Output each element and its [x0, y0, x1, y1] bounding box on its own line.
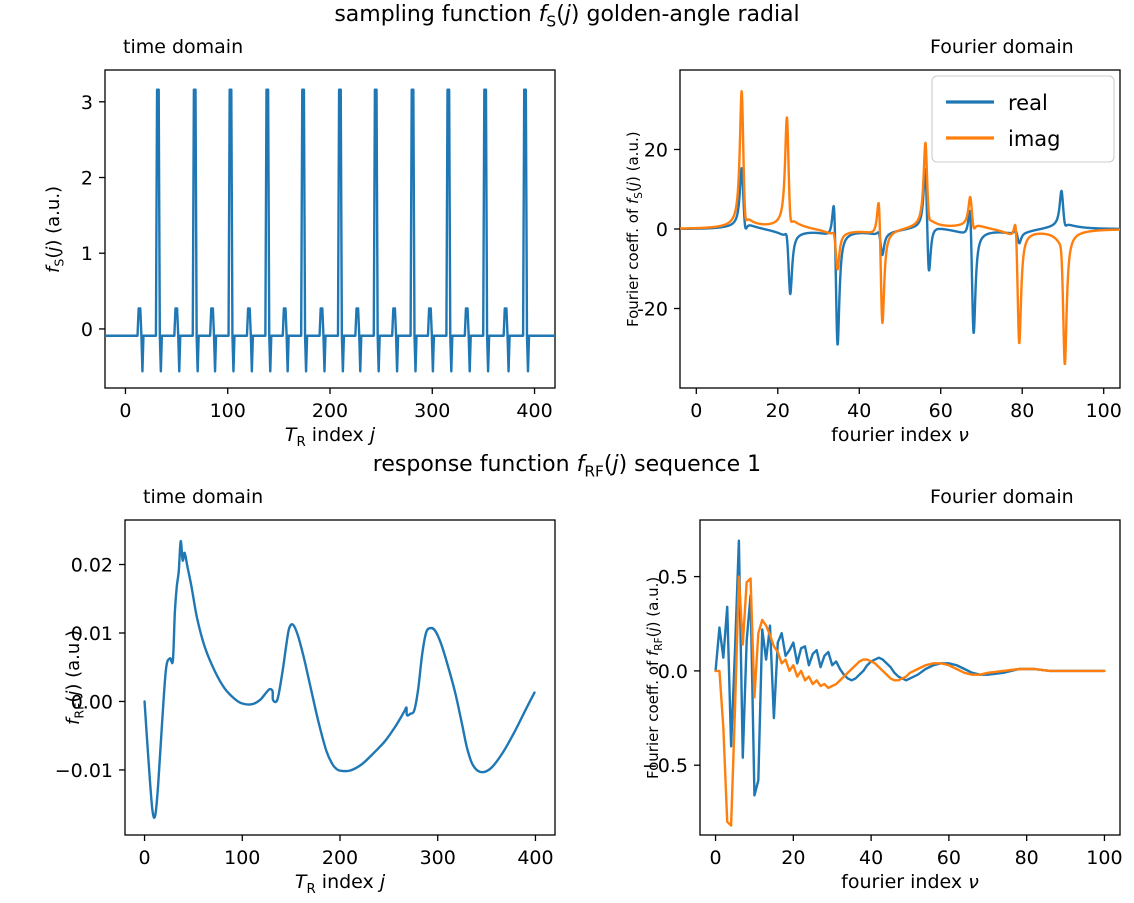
x-tick-label: 200: [312, 400, 348, 422]
x-tick-label: 20: [781, 847, 805, 869]
y-tick-label: 0: [81, 319, 93, 341]
y-tick-label: 0.02: [71, 555, 113, 577]
x-tick-label: 300: [420, 847, 456, 869]
x-axis-label-sampling-fourier: fourier index ν: [680, 424, 1120, 446]
plot-svg-response-time: 0100200300400−0.010.000.010.02: [125, 520, 557, 837]
legend-label-imag: imag: [1008, 127, 1061, 151]
x-axis-label-response-fourier: fourier index ν: [700, 871, 1120, 893]
x-tick-label: 0: [119, 400, 131, 422]
x-tick-label: 100: [224, 847, 260, 869]
figure-suptitle-row2: response function fRF(j) sequence 1: [0, 452, 1134, 480]
y-tick-label: 2: [81, 168, 93, 190]
x-tick-label: 60: [937, 847, 961, 869]
x-tick-label: 200: [322, 847, 358, 869]
x-tick-label: 40: [847, 400, 871, 422]
series-line-real: [680, 168, 1120, 344]
y-axis-label-response-fourier: Fourier coeff. of fRF(j) (a.u.): [644, 576, 665, 778]
y-axis-label-sampling-time: fS(j) (a.u.): [43, 185, 67, 272]
plot-svg-sampling-time: 01002003004000123: [105, 70, 557, 390]
x-tick-label: 60: [929, 400, 953, 422]
series-line-f-s: [105, 90, 555, 372]
plot-svg-sampling-fourier: 020406080100-20020realimag: [680, 70, 1122, 390]
x-axis-label-response-time: TR index j: [125, 871, 555, 897]
legend: realimag: [932, 76, 1114, 162]
plot-panel-sampling-time: 01002003004000123: [105, 70, 555, 388]
series-line-real: [716, 541, 1105, 796]
y-tick-label: −0.01: [55, 760, 113, 782]
subplot-title-response-time: time domain: [143, 486, 263, 508]
plot-panel-response-time: 0100200300400−0.010.000.010.02: [125, 520, 555, 835]
y-tick-label: 0: [656, 219, 668, 241]
x-tick-label: 100: [1086, 847, 1122, 869]
x-tick-label: 300: [414, 400, 450, 422]
x-tick-label: 100: [1086, 400, 1122, 422]
subplot-title-response-fourier: Fourier domain: [930, 486, 1074, 508]
x-tick-label: 20: [766, 400, 790, 422]
x-tick-label: 400: [517, 847, 553, 869]
figure-canvas: sampling function fS(j) golden-angle rad…: [0, 0, 1134, 903]
axes-frame: [125, 520, 555, 835]
x-tick-label: 100: [210, 400, 246, 422]
legend-label-real: real: [1008, 91, 1048, 115]
y-axis-label-sampling-fourier: Fourier coeff. of fS(j) (a.u.): [624, 131, 645, 327]
y-tick-label: 3: [81, 92, 93, 114]
x-tick-label: 40: [859, 847, 883, 869]
subplot-title-sampling-time: time domain: [123, 36, 243, 58]
plot-panel-sampling-fourier: 020406080100-20020realimag: [680, 70, 1120, 388]
y-tick-label: 20: [644, 140, 668, 162]
x-tick-label: 0: [138, 847, 150, 869]
y-axis-label-response-time: fRF(j) (a.u.): [63, 630, 87, 725]
x-tick-label: 0: [710, 847, 722, 869]
series-line-f-rf: [145, 541, 535, 818]
x-tick-label: 80: [1010, 400, 1034, 422]
figure-suptitle-row1: sampling function fS(j) golden-angle rad…: [0, 2, 1134, 30]
x-axis-label-sampling-time: TR index j: [105, 424, 555, 450]
x-tick-label: 80: [1015, 847, 1039, 869]
plot-svg-response-fourier: 020406080100−0.50.00.5: [700, 520, 1122, 837]
plot-panel-response-fourier: 020406080100−0.50.00.5: [700, 520, 1120, 835]
subplot-title-sampling-fourier: Fourier domain: [930, 36, 1074, 58]
x-tick-label: 0: [690, 400, 702, 422]
x-tick-label: 400: [516, 400, 552, 422]
y-tick-label: 1: [81, 243, 93, 265]
